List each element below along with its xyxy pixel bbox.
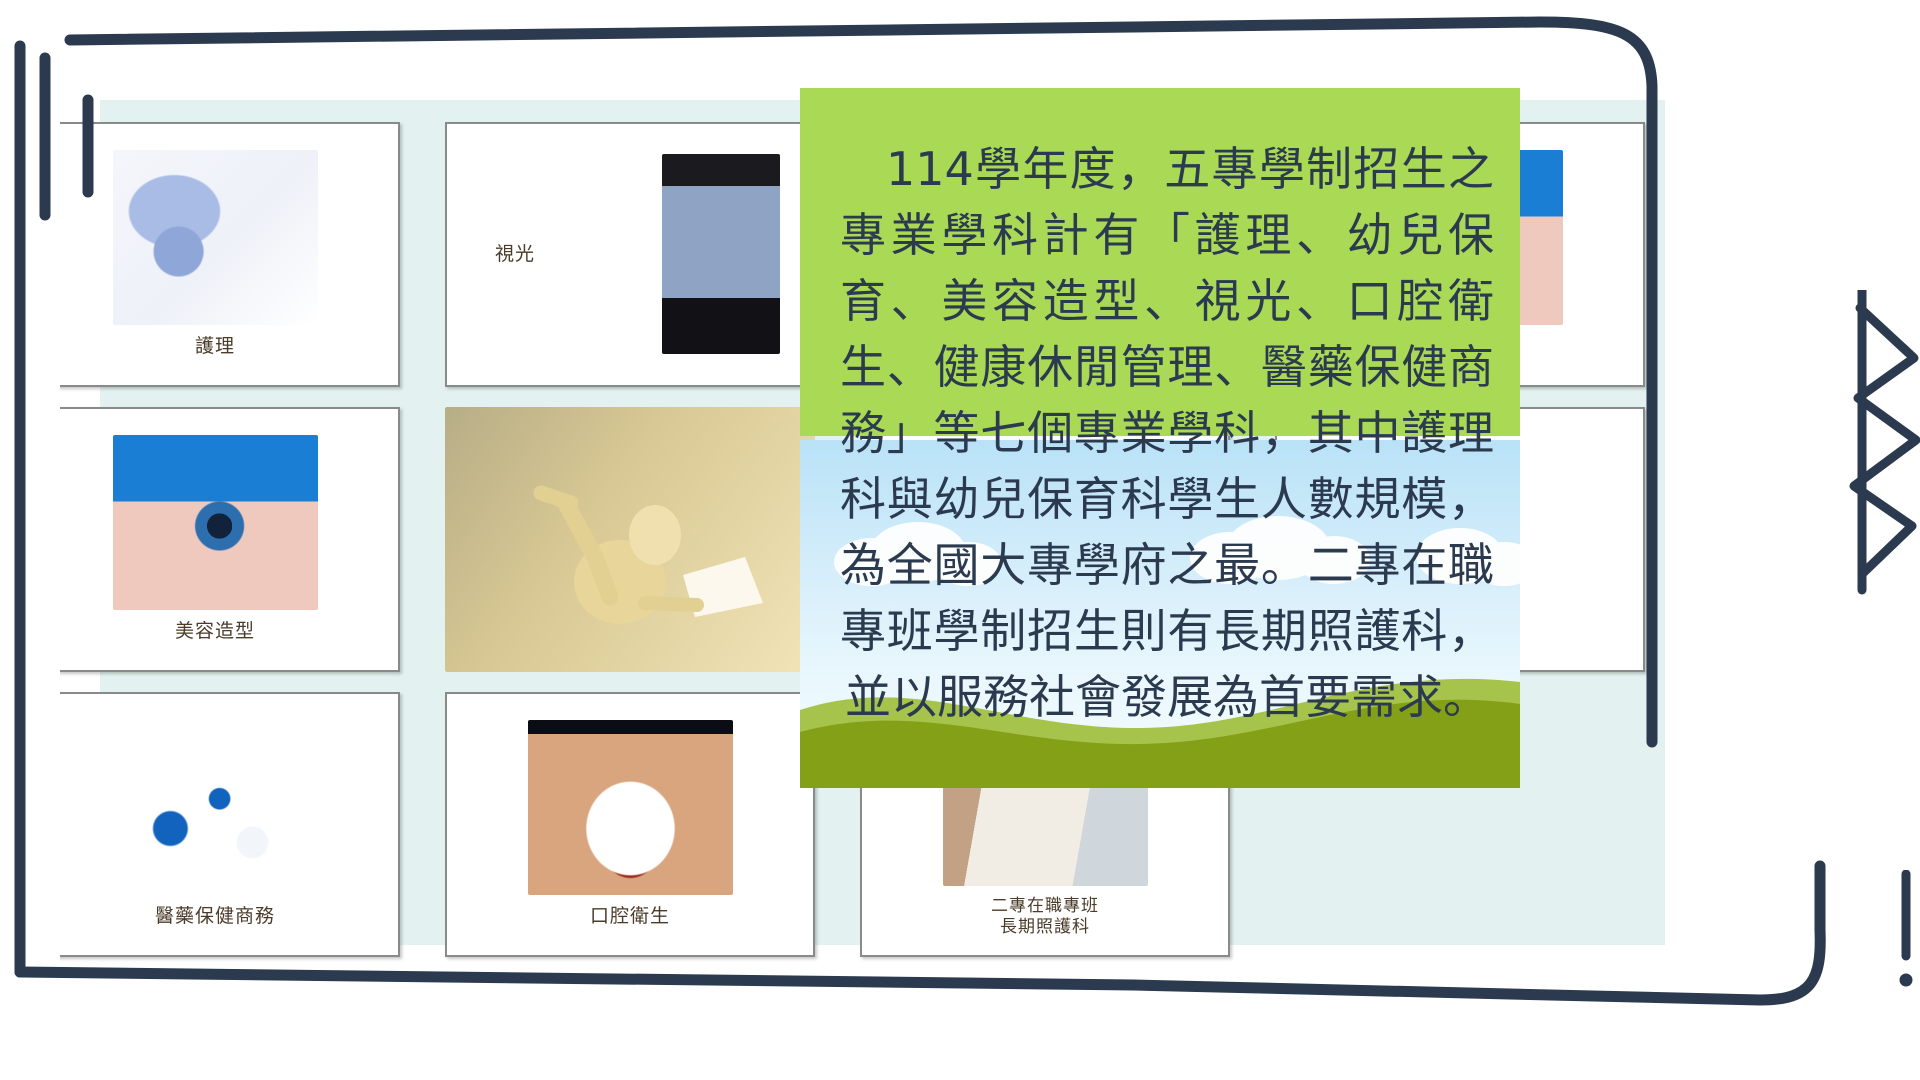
- overlay-body-text: 114學年度，五專學制招生之專業學科計有「護理、幼兒保育、美容造型、視光、口腔衛…: [800, 88, 1520, 788]
- frame-top-edge: [70, 22, 1540, 40]
- card-label: 醫藥保健商務: [155, 905, 275, 929]
- card-label: 口腔衛生: [590, 905, 670, 929]
- mannequin-reading-icon: [445, 407, 815, 672]
- card-wooden-mannequin[interactable]: [445, 407, 815, 672]
- card-pharma-business-2[interactable]: 醫藥保健商務: [60, 692, 400, 957]
- card-optometry[interactable]: 視光: [445, 122, 815, 387]
- slide-stage: 護理 視光: [0, 0, 1920, 1080]
- capsules-photo: [113, 720, 318, 895]
- exclamation-mark-decoration: [1895, 870, 1917, 990]
- card-label: 視光: [495, 243, 535, 267]
- eye-makeup-photo: [113, 435, 318, 610]
- nurse-photo: [113, 150, 318, 325]
- wooden-mannequin-photo: [445, 407, 815, 672]
- zigzag-squiggle-decoration: [1840, 290, 1920, 600]
- description-overlay: 114學年度，五專學制招生之專業學科計有「護理、幼兒保育、美容造型、視光、口腔衛…: [800, 88, 1520, 788]
- card-beauty-styling-2[interactable]: 美容造型: [60, 407, 400, 672]
- card-nursing[interactable]: 護理: [60, 122, 400, 387]
- fashion-photo: [662, 154, 780, 354]
- card-label: 美容造型: [175, 620, 255, 644]
- card-oral-hygiene[interactable]: 口腔衛生: [445, 692, 815, 957]
- card-label: 護理: [195, 335, 235, 359]
- teeth-photo: [528, 720, 733, 895]
- card-label: 二專在職專班 長期照護科: [991, 896, 1099, 939]
